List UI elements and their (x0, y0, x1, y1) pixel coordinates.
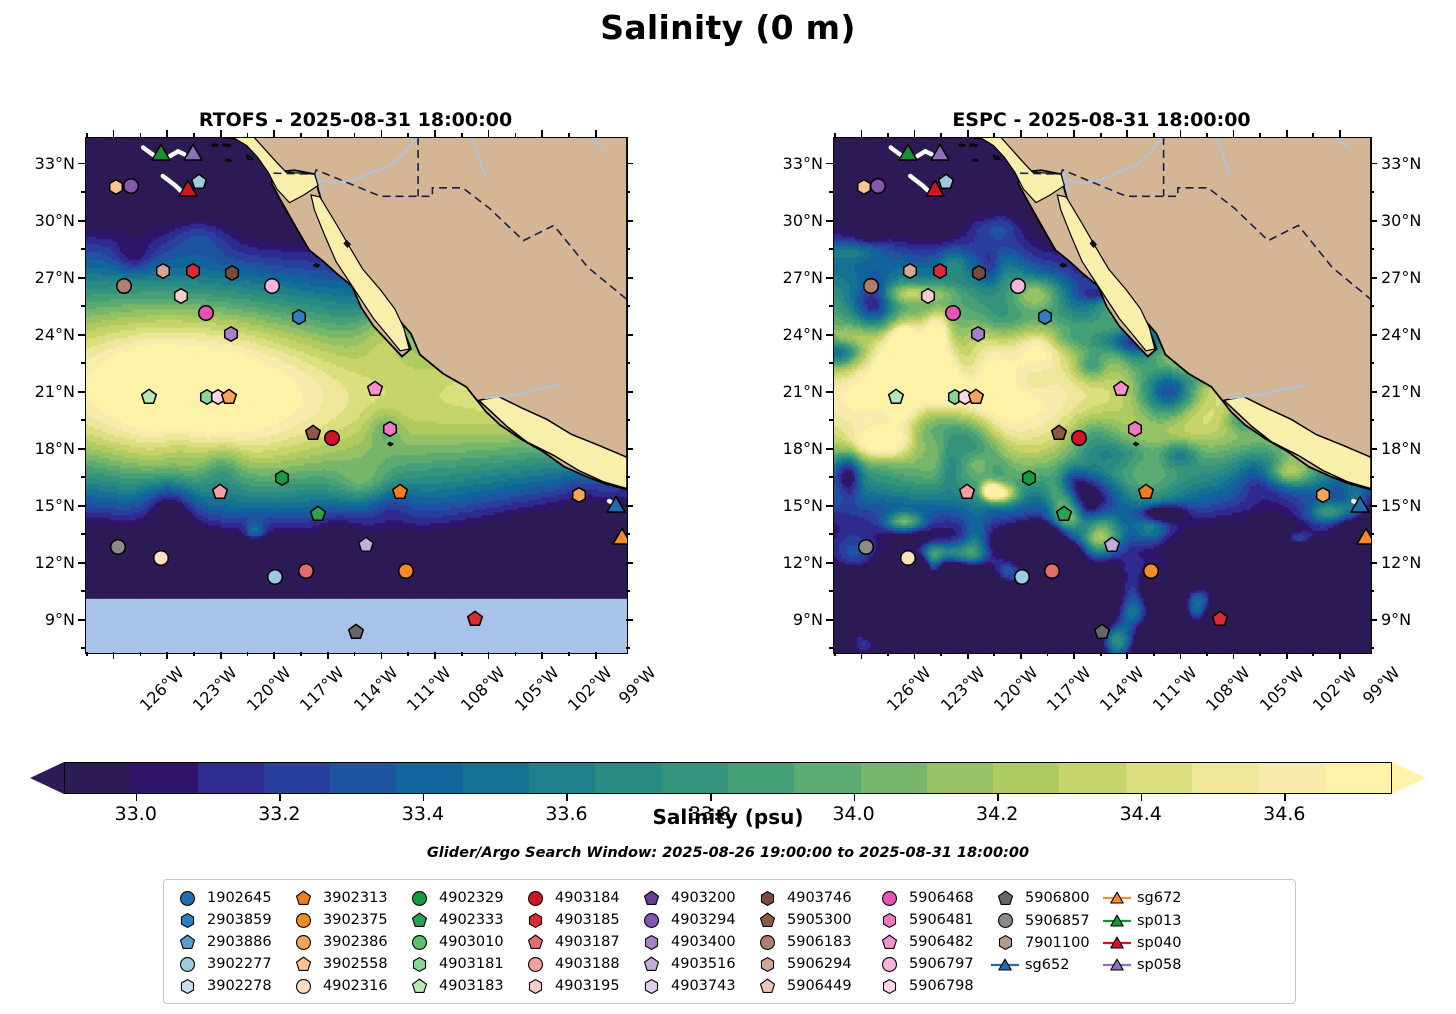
y-tick (829, 419, 833, 421)
panel-rtofs-title: RTOFS - 2025-08-31 18:00:00 (85, 109, 626, 131)
map-marker-3902386b[interactable] (571, 487, 587, 503)
colorbar-gradient (64, 762, 1392, 794)
colorbar-tick (854, 794, 856, 801)
y-tick (78, 448, 85, 450)
legend-item-4903183[interactable]: 4903183 (406, 975, 522, 997)
x-tick (541, 130, 543, 137)
map-marker-sp013[interactable] (899, 144, 918, 163)
map-marker-5906481[interactable] (382, 421, 398, 437)
x-tick-label: 117°W (1043, 663, 1095, 715)
legend-item-1902645[interactable]: 1902645 (174, 887, 290, 909)
map-marker-sp058[interactable] (931, 144, 950, 163)
legend-item-3902375[interactable]: 3902375 (290, 909, 406, 931)
x-tick (887, 652, 889, 656)
legend-item-4903200[interactable]: 4903200 (638, 887, 754, 909)
map-marker-5906468[interactable] (945, 305, 961, 321)
map-marker-4902333[interactable] (310, 506, 326, 522)
legend-item-4903400[interactable]: 4903400 (638, 931, 754, 953)
panel-rtofs: RTOFS - 2025-08-31 18:00:00 (85, 137, 626, 652)
colorbar-segment-1 (131, 763, 197, 793)
map-marker-4903183[interactable] (888, 389, 904, 405)
x-tick-label: 105°W (1255, 663, 1307, 715)
y-tick-label: 30°N (747, 211, 823, 230)
x-tick-label: 111°W (1149, 663, 1201, 715)
x-tick (595, 652, 597, 659)
map-marker-5906797[interactable] (1010, 278, 1026, 294)
y-tick-label: 18°N (747, 439, 823, 458)
colorbar-segment-15 (1059, 763, 1125, 793)
map-marker-2903859[interactable] (1037, 309, 1053, 325)
colorbar-segment-14 (993, 763, 1059, 793)
x-tick (1153, 133, 1155, 137)
y-tick (1370, 419, 1374, 421)
x-tick (1286, 130, 1288, 137)
legend-marker-circle-icon (174, 957, 200, 972)
map-marker-sp058[interactable] (184, 144, 203, 163)
y-tick-label: 15°N (0, 496, 75, 515)
legend-item-label: 3902558 (316, 956, 388, 972)
y-tick (829, 248, 833, 250)
map-marker-sp013[interactable] (152, 144, 171, 163)
x-tick (273, 130, 275, 137)
y-tick-label: 33°N (0, 154, 75, 173)
legend-item-label: 5906481 (902, 912, 974, 928)
map-marker-4902329[interactable] (274, 470, 290, 486)
x-tick (834, 133, 836, 137)
map-marker-4903185[interactable] (467, 611, 483, 627)
x-tick (993, 133, 995, 137)
x-tick (861, 130, 863, 137)
y-tick (78, 277, 85, 279)
x-tick-label: 114°W (1096, 663, 1148, 715)
colorbar: 33.033.233.433.633.834.034.234.434.6 (30, 762, 1426, 796)
y-tick (1370, 334, 1377, 336)
legend-marker-hexagon-icon (638, 935, 664, 950)
colorbar-segment-18 (1258, 763, 1324, 793)
legend-item-4903294[interactable]: 4903294 (638, 909, 754, 931)
legend-item-label: 3902386 (316, 934, 388, 950)
map-marker-3902386[interactable] (968, 389, 984, 405)
legend-item-label: 2903859 (200, 912, 272, 928)
map-marker-4903516[interactable] (1104, 537, 1120, 553)
map-marker-5906183[interactable] (116, 278, 132, 294)
map-marker-4903187[interactable] (1044, 563, 1060, 579)
legend-item-5906482[interactable]: 5906482 (876, 931, 992, 953)
x-tick (434, 652, 436, 659)
map-marker-4902316[interactable] (153, 550, 169, 566)
y-tick-label: 21°N (0, 382, 75, 401)
legend-item-sp013[interactable]: sp013 (1104, 909, 1181, 931)
y-tick (829, 533, 833, 535)
search-window-caption: Glider/Argo Search Window: 2025-08-26 19… (0, 845, 1456, 861)
y-tick (1370, 391, 1377, 393)
colorbar-segment-16 (1126, 763, 1192, 793)
map-marker-4902316[interactable] (900, 550, 916, 566)
map-marker-3902375[interactable] (398, 563, 414, 579)
map-marker-4903195[interactable] (173, 288, 189, 304)
legend-item-4903188[interactable]: 4903188 (522, 953, 638, 975)
legend-item-5906183[interactable]: 5906183 (754, 931, 876, 953)
colorbar-extend-min (30, 762, 64, 794)
colorbar-segment-19 (1325, 763, 1391, 793)
legend-marker-triangle-icon (1104, 957, 1130, 973)
legend-item-5906857[interactable]: 5906857 (992, 909, 1104, 931)
x-tick (354, 652, 356, 656)
legend-marker-pentagon-icon (638, 891, 664, 906)
y-tick (1370, 448, 1377, 450)
y-tick (78, 562, 85, 564)
legend-marker-circle-icon (522, 957, 548, 972)
x-tick (193, 652, 195, 656)
y-tick (826, 220, 833, 222)
x-tick (861, 652, 863, 659)
legend-item-5906797[interactable]: 5906797 (876, 953, 992, 975)
legend-item-2903859[interactable]: 2903859 (174, 909, 290, 931)
legend-item-3902278[interactable]: 3902278 (174, 975, 290, 997)
y-tick-label: 33°N (1381, 154, 1421, 173)
x-tick (967, 130, 969, 137)
y-tick-label: 9°N (0, 610, 75, 629)
legend-item-sg672[interactable]: sg672 (1104, 887, 1181, 909)
map-axes-espc[interactable] (833, 137, 1372, 654)
x-tick (300, 133, 302, 137)
colorbar-segment-0 (65, 763, 131, 793)
x-tick (1126, 652, 1128, 659)
x-tick (166, 130, 168, 137)
legend-item-3902558[interactable]: 3902558 (290, 953, 406, 975)
map-marker-4902333[interactable] (1056, 506, 1072, 522)
map-marker-2903859[interactable] (291, 309, 307, 325)
map-marker-4903184[interactable] (1071, 430, 1087, 446)
map-marker-5906468[interactable] (198, 305, 214, 321)
map-marker-5906800[interactable] (1094, 624, 1110, 640)
x-tick-label: 117°W (296, 663, 348, 715)
y-tick (1370, 305, 1374, 307)
y-tick (826, 163, 833, 165)
y-tick (626, 277, 633, 279)
legend-item-label: 4903200 (664, 890, 736, 906)
map-marker-5906797[interactable] (264, 278, 280, 294)
legend-item-7901100[interactable]: 7901100 (992, 932, 1104, 954)
y-tick (1370, 562, 1377, 564)
legend-item-5906468[interactable]: 5906468 (876, 887, 992, 909)
legend-item-4902329[interactable]: 4902329 (406, 887, 522, 909)
x-tick-label: 114°W (350, 663, 402, 715)
x-tick-label: 111°W (403, 663, 455, 715)
x-tick (1233, 130, 1235, 137)
legend-item-sg652[interactable]: sg652 (992, 954, 1104, 976)
legend-item-4903184[interactable]: 4903184 (522, 887, 638, 909)
legend-item-label: 5906800 (1018, 890, 1090, 906)
legend-marker-pentagon-icon (174, 935, 200, 950)
map-marker-4903294[interactable] (870, 178, 886, 194)
x-tick-label: 123°W (189, 663, 241, 715)
map-marker-4903195[interactable] (920, 288, 936, 304)
map-marker-sg652[interactable] (1351, 495, 1370, 514)
legend-marker-triangle-icon (1104, 935, 1130, 951)
y-tick (1370, 590, 1374, 592)
y-tick (626, 505, 633, 507)
y-tick (1370, 191, 1374, 193)
x-tick (381, 130, 383, 137)
y-tick (829, 590, 833, 592)
legend-item-4903195[interactable]: 4903195 (522, 975, 638, 997)
y-tick (81, 476, 85, 478)
map-marker-4903294[interactable] (123, 178, 139, 194)
x-tick (1206, 652, 1208, 656)
colorbar-tick (423, 794, 425, 801)
colorbar-segment-4 (330, 763, 396, 793)
legend-item-5906798[interactable]: 5906798 (876, 975, 992, 997)
legend-item-label: 5906449 (780, 978, 852, 994)
y-tick (826, 505, 833, 507)
y-tick (81, 191, 85, 193)
map-marker-4903400[interactable] (970, 326, 986, 342)
legend-marker-circle-icon (638, 913, 664, 928)
map-marker-4903746[interactable] (224, 265, 240, 281)
legend-item-4903185[interactable]: 4903185 (522, 909, 638, 931)
legend-marker-circle-icon (406, 935, 432, 950)
x-tick (86, 652, 88, 656)
legend-item-label: 1902645 (200, 890, 272, 906)
legend-marker-hexagon-icon (876, 913, 902, 928)
y-tick-label: 27°N (747, 268, 823, 287)
x-tick (914, 130, 916, 137)
map-marker-4903400[interactable] (223, 326, 239, 342)
colorbar-segment-10 (728, 763, 794, 793)
legend-item-label: 3902277 (200, 956, 272, 972)
colorbar-segment-13 (927, 763, 993, 793)
y-tick (626, 220, 633, 222)
legend-marker-hexagon-icon (754, 891, 780, 906)
map-marker-3902313[interactable] (1138, 484, 1154, 500)
x-tick (940, 133, 942, 137)
map-marker-5906482[interactable] (1113, 381, 1129, 397)
legend-item-label: 4902329 (432, 890, 504, 906)
x-tick (434, 130, 436, 137)
y-tick (829, 362, 833, 364)
y-tick-label: 12°N (0, 553, 75, 572)
legend-column-2: 49023294902333490301049031814903183 (406, 887, 522, 997)
x-tick (568, 133, 570, 137)
legend-item-3902386[interactable]: 3902386 (290, 931, 406, 953)
map-marker-sp040[interactable] (178, 180, 197, 199)
y-tick-label: 27°N (1381, 268, 1421, 287)
x-tick (1312, 133, 1314, 137)
y-tick (1370, 277, 1377, 279)
map-marker-5905300[interactable] (305, 425, 321, 441)
map-marker-5906294[interactable] (902, 263, 918, 279)
y-tick (81, 590, 85, 592)
legend-item-label: 4903185 (548, 912, 620, 928)
y-tick-label: 18°N (0, 439, 75, 458)
y-tick (78, 391, 85, 393)
figure-title: Salinity (0 m) (0, 8, 1456, 47)
salinity-field (834, 138, 1371, 653)
legend-marker-pentagon-icon (290, 891, 316, 906)
map-marker-sg652[interactable] (607, 495, 626, 514)
legend-item-4902316[interactable]: 4902316 (290, 975, 406, 997)
y-tick (81, 362, 85, 364)
x-tick (1047, 652, 1049, 656)
legend-item-5905300[interactable]: 5905300 (754, 909, 876, 931)
x-tick (1339, 652, 1341, 659)
y-tick (1370, 362, 1374, 364)
y-tick (626, 248, 630, 250)
x-tick (140, 652, 142, 656)
legend-marker-hexagon-icon (876, 979, 902, 994)
x-tick-label: 102°W (564, 663, 616, 715)
legend-marker-pentagon-icon (522, 935, 548, 950)
map-marker-5906857[interactable] (858, 539, 874, 555)
map-marker-4903516[interactable] (358, 537, 374, 553)
legend-item-label: 2903886 (200, 934, 272, 950)
x-tick (1047, 133, 1049, 137)
legend-marker-circle-icon (876, 891, 902, 906)
legend-marker-pentagon-icon (992, 891, 1018, 906)
map-marker-3902313[interactable] (392, 484, 408, 500)
legend-item-label: 4903743 (664, 978, 736, 994)
y-tick-label: 9°N (1381, 610, 1411, 629)
legend-marker-circle-icon (992, 913, 1018, 928)
y-tick-label: 21°N (747, 382, 823, 401)
map-marker-sg672[interactable] (1356, 528, 1372, 547)
map-marker-3902277[interactable] (1014, 569, 1030, 585)
map-marker-4903184b[interactable] (185, 263, 201, 279)
y-tick (829, 191, 833, 193)
map-marker-3902375[interactable] (1143, 563, 1159, 579)
legend-item-label: sp058 (1130, 957, 1181, 973)
x-tick (541, 652, 543, 659)
legend-item-5906449[interactable]: 5906449 (754, 975, 876, 997)
map-marker-4903183[interactable] (141, 389, 157, 405)
map-marker-5906482[interactable] (367, 381, 383, 397)
x-tick (515, 133, 517, 137)
map-marker-3902386b[interactable] (1315, 487, 1331, 503)
map-marker-sp040[interactable] (926, 180, 945, 199)
x-tick (193, 133, 195, 137)
legend-item-4902333[interactable]: 4902333 (406, 909, 522, 931)
legend-item-label: 4903400 (664, 934, 736, 950)
x-tick (327, 130, 329, 137)
legend-item-label: 5906798 (902, 978, 974, 994)
map-marker-4903184b[interactable] (932, 263, 948, 279)
legend-item-label: 5905300 (780, 912, 852, 928)
map-marker-4903188[interactable] (959, 484, 975, 500)
y-tick (626, 419, 630, 421)
x-tick (327, 652, 329, 659)
legend-item-label: 5906183 (780, 934, 852, 950)
legend-marker-triangle-icon (1104, 890, 1130, 906)
colorbar-segment-17 (1192, 763, 1258, 793)
legend-item-label: 4903184 (548, 890, 620, 906)
map-marker-5906294[interactable] (155, 263, 171, 279)
map-marker-4903184[interactable] (324, 430, 340, 446)
legend-item-label: 4903746 (780, 890, 852, 906)
legend-item-label: 5906857 (1018, 913, 1090, 929)
x-tick (488, 652, 490, 659)
colorbar-segment-8 (595, 763, 661, 793)
legend-marker-triangle-icon (992, 957, 1018, 973)
colorbar-segment-7 (529, 763, 595, 793)
map-marker-5906183[interactable] (863, 278, 879, 294)
legend-item-4903743[interactable]: 4903743 (638, 975, 754, 997)
legend-item-5906294[interactable]: 5906294 (754, 953, 876, 975)
legend-marker-hexagon-icon (754, 957, 780, 972)
colorbar-segment-3 (264, 763, 330, 793)
y-tick (78, 220, 85, 222)
map-marker-3902277[interactable] (267, 569, 283, 585)
y-tick (826, 562, 833, 564)
legend-column-0: 19026452903859290388639022773902278 (174, 887, 290, 997)
x-tick (461, 133, 463, 137)
legend-item-label: 4903195 (548, 978, 620, 994)
x-tick (1286, 652, 1288, 659)
map-marker-5906800[interactable] (348, 624, 364, 640)
legend-item-label: 3902278 (200, 978, 272, 994)
map-marker-sg672[interactable] (612, 528, 628, 547)
map-marker-4902329[interactable] (1021, 470, 1037, 486)
map-marker-5906481[interactable] (1127, 421, 1143, 437)
legend-item-4903746[interactable]: 4903746 (754, 887, 876, 909)
map-marker-5905300[interactable] (1051, 425, 1067, 441)
legend-marker-circle-icon (406, 891, 432, 906)
map-marker-4903187[interactable] (298, 563, 314, 579)
x-tick (247, 652, 249, 656)
legend-item-4903010[interactable]: 4903010 (406, 931, 522, 953)
x-tick (967, 652, 969, 659)
map-marker-4903185[interactable] (1212, 611, 1228, 627)
x-tick (1020, 652, 1022, 659)
map-axes-rtofs[interactable] (85, 137, 628, 654)
legend-item-5906481[interactable]: 5906481 (876, 909, 992, 931)
legend-marker-hexagon-icon (522, 979, 548, 994)
x-tick (887, 133, 889, 137)
map-marker-3902386[interactable] (221, 389, 237, 405)
x-tick (166, 652, 168, 659)
legend-marker-pentagon-icon (406, 913, 432, 928)
map-marker-4903746[interactable] (971, 265, 987, 281)
legend-marker-hexagon-icon (174, 979, 200, 994)
legend-item-2903886[interactable]: 2903886 (174, 931, 290, 953)
x-tick-label: 126°W (883, 663, 935, 715)
x-tick (1153, 652, 1155, 656)
x-tick (940, 652, 942, 656)
legend-marker-pentagon-icon (290, 957, 316, 972)
legend-item-3902277[interactable]: 3902277 (174, 953, 290, 975)
legend-item-4903181[interactable]: 4903181 (406, 953, 522, 975)
legend-item-3902313[interactable]: 3902313 (290, 887, 406, 909)
y-tick (829, 305, 833, 307)
legend-item-sp058[interactable]: sp058 (1104, 954, 1181, 976)
y-tick (829, 476, 833, 478)
legend-item-4903187[interactable]: 4903187 (522, 931, 638, 953)
y-tick-label: 15°N (1381, 496, 1421, 515)
colorbar-extend-max (1392, 762, 1426, 794)
y-tick (626, 533, 630, 535)
legend-item-label: 4903181 (432, 956, 504, 972)
map-marker-5906857[interactable] (110, 539, 126, 555)
map-marker-4903188[interactable] (212, 484, 228, 500)
legend-item-5906800[interactable]: 5906800 (992, 887, 1104, 909)
y-tick (626, 334, 633, 336)
y-tick-label: 30°N (1381, 211, 1421, 230)
legend-item-label: 5906468 (902, 890, 974, 906)
platform-legend: 1902645290385929038863902277390227839023… (163, 879, 1296, 1004)
legend-item-sp040[interactable]: sp040 (1104, 932, 1181, 954)
legend-column-7: 590680059068577901100sg652 (992, 887, 1104, 997)
legend-item-4903516[interactable]: 4903516 (638, 953, 754, 975)
